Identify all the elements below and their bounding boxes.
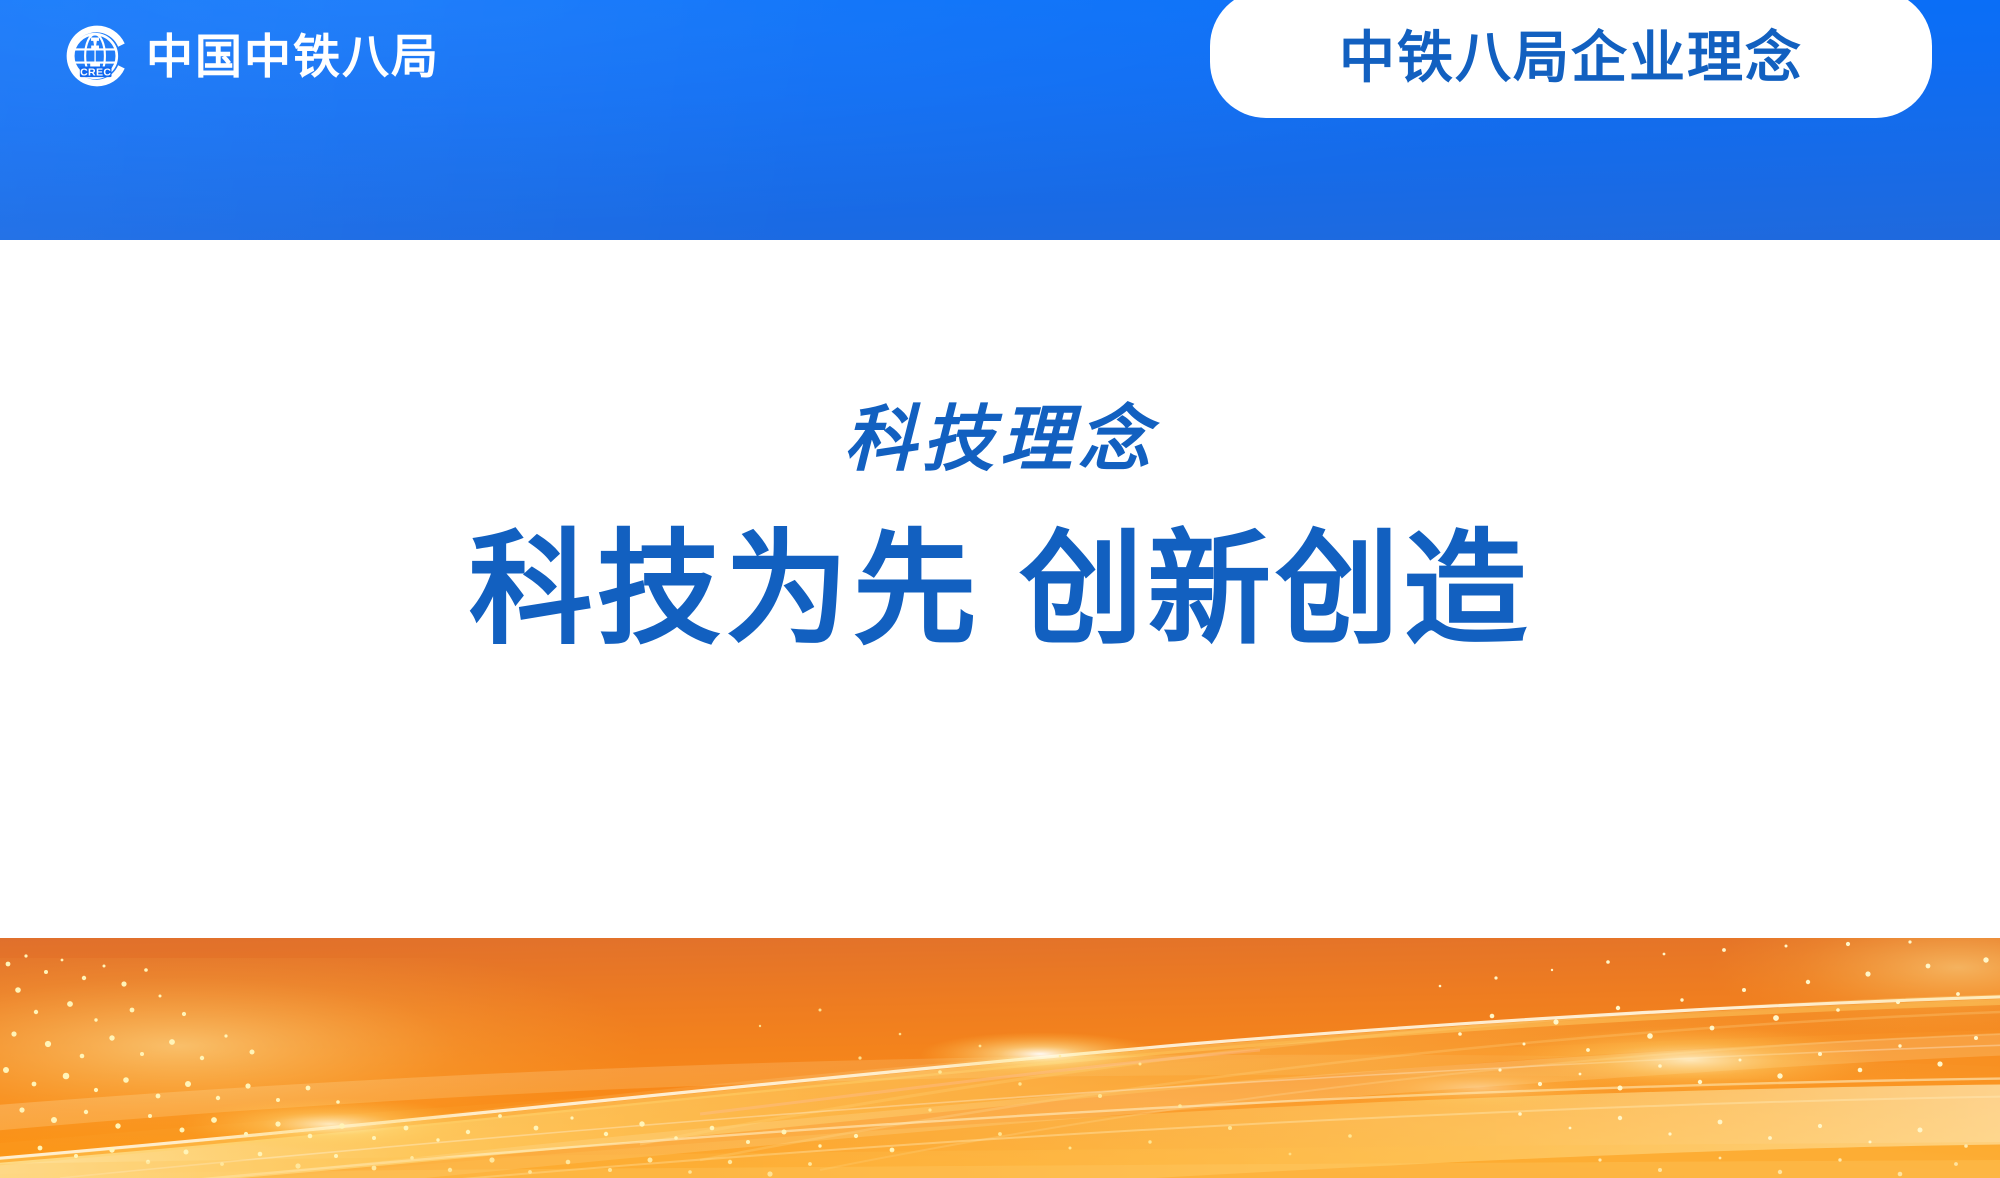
corner-badge-label: 中铁八局企业理念 bbox=[1339, 30, 1803, 86]
footer-decoration-graphic bbox=[0, 938, 2000, 1178]
svg-text:CREC: CREC bbox=[80, 66, 111, 78]
page-title: 科技为先 创新创造 bbox=[0, 528, 2000, 652]
section-eyebrow-label: 科技理念 bbox=[0, 404, 2000, 476]
brand-lockup: CREC 中国中铁八局 bbox=[64, 23, 440, 89]
slide-canvas: CREC 中国中铁八局 中铁八局企业理念 科技理念 科技为先 创新创造 bbox=[0, 0, 2000, 1178]
orange-light-ribbon-sparkle-band bbox=[0, 938, 2000, 1178]
brand-name-label: 中国中铁八局 bbox=[146, 33, 440, 80]
corner-badge: 中铁八局企业理念 bbox=[1210, 0, 1932, 118]
crec-globe-logo-icon: CREC bbox=[64, 23, 130, 89]
content-stage: 科技理念 科技为先 创新创造 bbox=[0, 240, 2000, 938]
header-bar: CREC 中国中铁八局 中铁八局企业理念 bbox=[0, 0, 2000, 240]
